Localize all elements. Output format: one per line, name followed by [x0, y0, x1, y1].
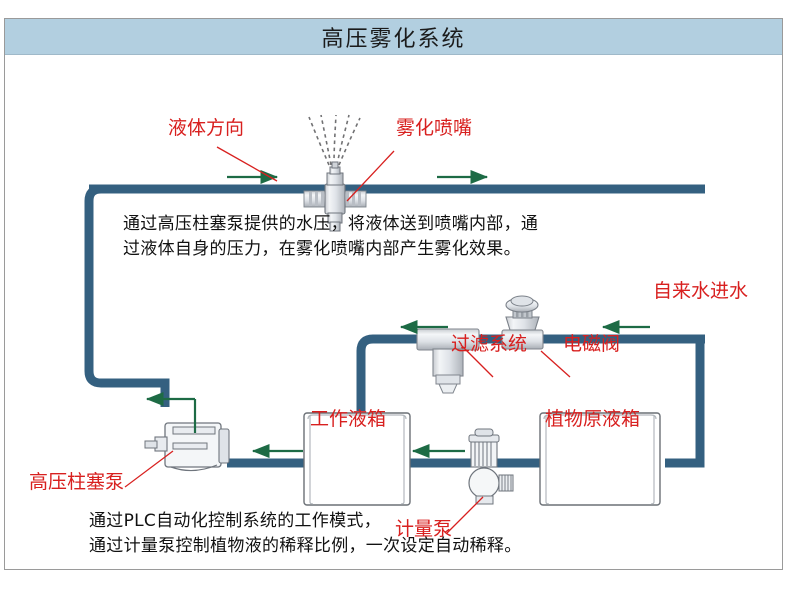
leader-liquid-direction — [217, 147, 277, 181]
plunger-pump-icon — [145, 423, 229, 471]
title-bar: 高压雾化系统 — [5, 19, 782, 55]
label-tapwater-inlet: 自来水进水 — [653, 282, 748, 302]
label-liquid-direction: 液体方向 — [168, 119, 244, 139]
mist-spray-icon — [309, 115, 360, 165]
label-working-tank: 工作液箱 — [310, 404, 386, 431]
diagram-canvas: 液体方向 雾化喷嘴 自来水进水 过滤系统 电磁阀 高压柱塞泵 计量泵 工作液箱 … — [5, 55, 782, 570]
leader-plunger-pump — [125, 451, 173, 487]
label-plunger-pump: 高压柱塞泵 — [29, 473, 124, 493]
pipe-filter-to-worktank — [361, 339, 420, 411]
label-stock-tank: 植物原液箱 — [545, 404, 640, 431]
pipe-right-riser — [665, 339, 700, 463]
label-solenoid-valve: 电磁阀 — [563, 335, 620, 355]
label-atomizing-nozzle: 雾化喷嘴 — [396, 119, 472, 139]
page-title: 高压雾化系统 — [321, 21, 465, 53]
label-filter-system: 过滤系统 — [451, 335, 527, 355]
diagram-page: 高压雾化系统 — [0, 0, 787, 590]
diagram-card: 高压雾化系统 — [4, 18, 783, 570]
paragraph-bottom: 通过PLC自动化控制系统的工作模式， 通过计量泵控制植物液的稀释比例，一次设定自… — [89, 509, 522, 558]
paragraph-top: 通过高压柱塞泵提供的水压，将液体送到喷嘴内部，通 过液体自身的压力，在雾化喷嘴内… — [123, 212, 538, 261]
